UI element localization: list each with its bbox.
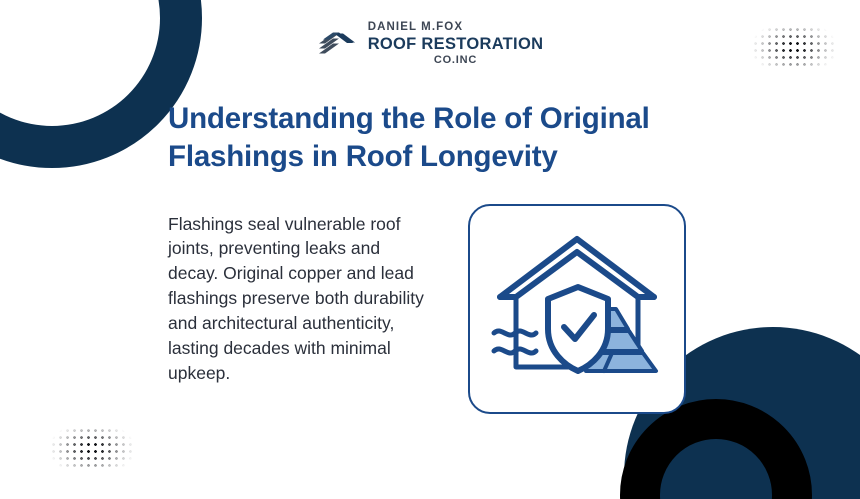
illustration-card [468,204,686,414]
content-block: Understanding the Role of Original Flash… [168,100,788,414]
brand-name-line: DANIEL M.FOX [368,22,463,34]
brand-logo-text: DANIEL M.FOX ROOF RESTORATION CO.INC [368,22,544,66]
roof-shingles-icon [317,27,363,62]
brand-logo: DANIEL M.FOX ROOF RESTORATION CO.INC [0,22,860,66]
slide-canvas: DANIEL M.FOX ROOF RESTORATION CO.INC Und… [0,0,860,499]
bottom-right-black-ring-decoration [620,399,812,499]
house-shield-shingles-illustration [486,221,668,397]
body-row: Flashings seal vulnerable roof joints, p… [168,212,788,414]
shield-with-checkmark [548,287,608,371]
body-paragraph: Flashings seal vulnerable roof joints, p… [168,212,426,386]
brand-suffix-line: CO.INC [434,55,477,66]
bottom-left-dot-grid-decoration [50,427,134,471]
page-title: Understanding the Role of Original Flash… [168,100,688,176]
brand-logo-inner: DANIEL M.FOX ROOF RESTORATION CO.INC [317,22,544,66]
brand-tagline-line: ROOF RESTORATION [368,36,544,53]
